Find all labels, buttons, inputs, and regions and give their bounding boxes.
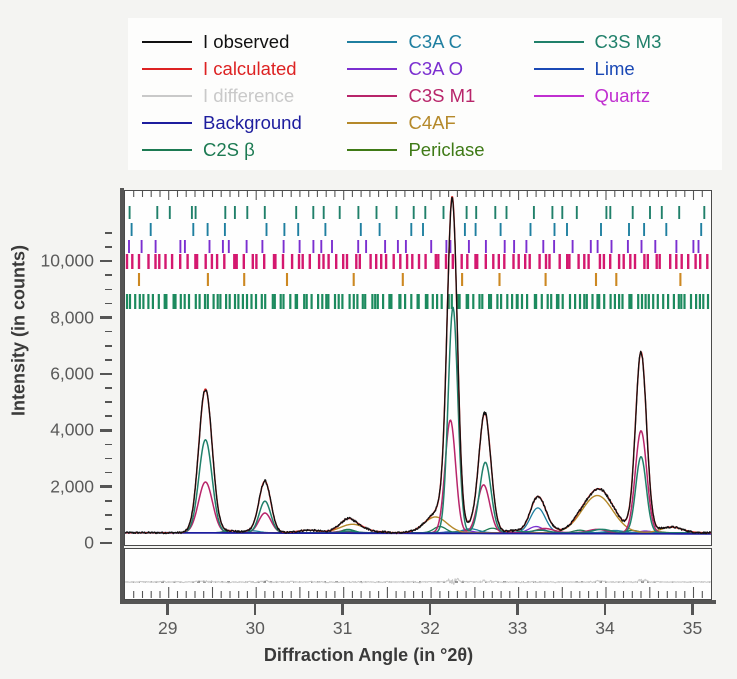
x-axis-labels: 29303132333435: [0, 0, 737, 679]
x-axis-tick-label: 29: [158, 618, 177, 639]
x-axis-tick-label: 33: [508, 618, 527, 639]
x-axis-tick-label: 32: [420, 618, 439, 639]
x-axis-tick-label: 34: [595, 618, 614, 639]
x-axis-title: Diffraction Angle (in °2θ): [0, 645, 737, 666]
y-axis-title: Intensity (in counts): [9, 166, 30, 496]
x-axis-tick-label: 31: [333, 618, 352, 639]
x-axis-tick-label: 30: [245, 618, 264, 639]
x-axis-tick-label: 35: [683, 618, 702, 639]
